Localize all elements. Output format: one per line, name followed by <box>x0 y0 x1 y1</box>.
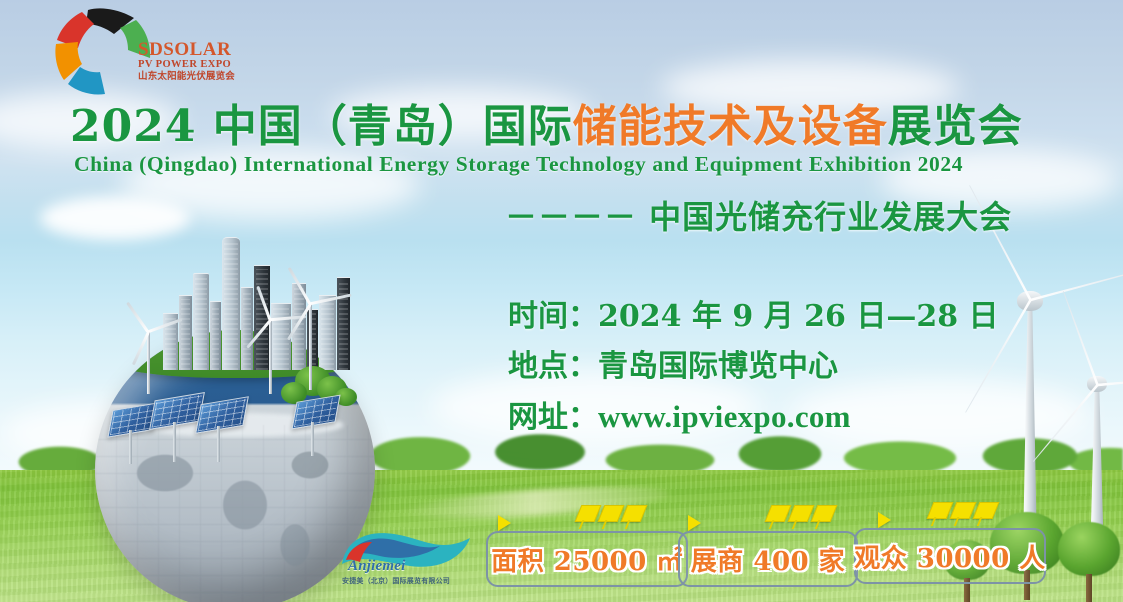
globe-wind-turbine <box>283 288 337 392</box>
page-subtitle: －－－－ 中国光储充行业发展大会 <box>505 192 1012 238</box>
foreground-tree <box>1058 522 1120 602</box>
stat-badge-text: 观众 30000 人 <box>854 538 1046 575</box>
turbine-blade <box>246 319 271 348</box>
tree-trunk <box>1086 574 1092 602</box>
solar-panel-leg <box>217 426 220 462</box>
arrow-icon <box>878 512 891 528</box>
solar-panel-leg <box>311 422 314 456</box>
solar-panel-leg <box>173 422 176 462</box>
solar-icon-group <box>930 502 996 519</box>
event-venue-line: 地点：青岛国际博览中心 <box>508 342 999 392</box>
building <box>179 295 192 370</box>
event-website-value[interactable]: www.ipviexpo.com <box>598 399 851 434</box>
earth-globe-graphic <box>95 330 375 602</box>
logo-line-3: 山东太阳能光伏展览会 <box>138 72 235 82</box>
sponsor-logo[interactable]: Anjiemei 安捷美（北京）国际展览有限公司 <box>336 524 476 596</box>
stat-badge-text: 面积 25000 ㎡ <box>491 541 683 578</box>
sdsolar-logo[interactable]: SDSOLAR PV POWER EXPO 山东太阳能光伏展览会 <box>50 4 250 96</box>
title-part-3: 展览会 <box>888 101 1023 152</box>
solar-panel-icon <box>621 505 648 522</box>
event-venue-value: 青岛国际博览中心 <box>598 349 838 384</box>
turbine-mast <box>309 304 312 390</box>
page-title: 2024 中国（青岛）国际储能技术及设备展览会 <box>70 101 1070 153</box>
turbine-mast <box>147 332 150 394</box>
logo-line-1: SDSOLAR <box>138 40 235 59</box>
arrow-icon <box>498 515 511 531</box>
building <box>193 273 209 370</box>
event-info-block: 时间：2024 年 9 月 26 日—28 日 地点：青岛国际博览中心 网址：w… <box>508 292 999 443</box>
globe-map-texture <box>95 425 375 602</box>
stat-badge-area: 面积 25000 ㎡ <box>486 531 688 587</box>
event-date-line: 时间：2024 年 9 月 26 日—28 日 <box>508 292 999 342</box>
title-part-2: 储能技术及设备 <box>573 101 888 152</box>
solar-panel-icon <box>811 505 838 522</box>
solar-panel-icon <box>973 502 1000 519</box>
solar-icon-group <box>578 505 644 522</box>
turbine-blade <box>126 302 149 333</box>
event-date-label: 时间： <box>508 299 598 334</box>
sponsor-name-english: Anjiemei <box>348 558 405 575</box>
building <box>210 301 221 370</box>
event-venue-label: 地点： <box>508 349 598 384</box>
title-part-1: 2024 中国（青岛）国际 <box>70 101 573 152</box>
stat-badge-text: 展商 400 家 <box>691 541 845 578</box>
logo-text-block: SDSOLAR PV POWER EXPO 山东太阳能光伏展览会 <box>138 40 235 82</box>
logo-line-2: PV POWER EXPO <box>138 60 235 71</box>
event-website-label: 网址： <box>508 400 598 435</box>
sponsor-name-chinese: 安捷美（北京）国际展览有限公司 <box>342 576 450 586</box>
exhibition-banner: SDSOLAR PV POWER EXPO 山东太阳能光伏展览会 <box>0 0 1123 602</box>
stat-badge-visitors: 观众 30000 人 <box>854 528 1046 584</box>
event-date-value: 2024 年 9 月 26 日—28 日 <box>598 299 999 334</box>
page-title-english: China (Qingdao) International Energy Sto… <box>74 152 1074 177</box>
solar-panel-leg <box>129 430 132 464</box>
turbine-blade <box>287 303 311 340</box>
event-website-line: 网址：www.ipviexpo.com <box>508 392 999 443</box>
turbine-mast <box>269 320 272 394</box>
turbine-blade <box>1058 289 1103 387</box>
globe-wind-turbine <box>123 316 173 396</box>
tree-crown <box>1058 522 1120 576</box>
building <box>337 277 350 370</box>
stat-badge-exhibitors: 展商 400 家 <box>678 531 858 587</box>
solar-icon-group <box>768 505 834 522</box>
building-tower <box>222 237 240 370</box>
arrow-icon <box>688 515 701 531</box>
